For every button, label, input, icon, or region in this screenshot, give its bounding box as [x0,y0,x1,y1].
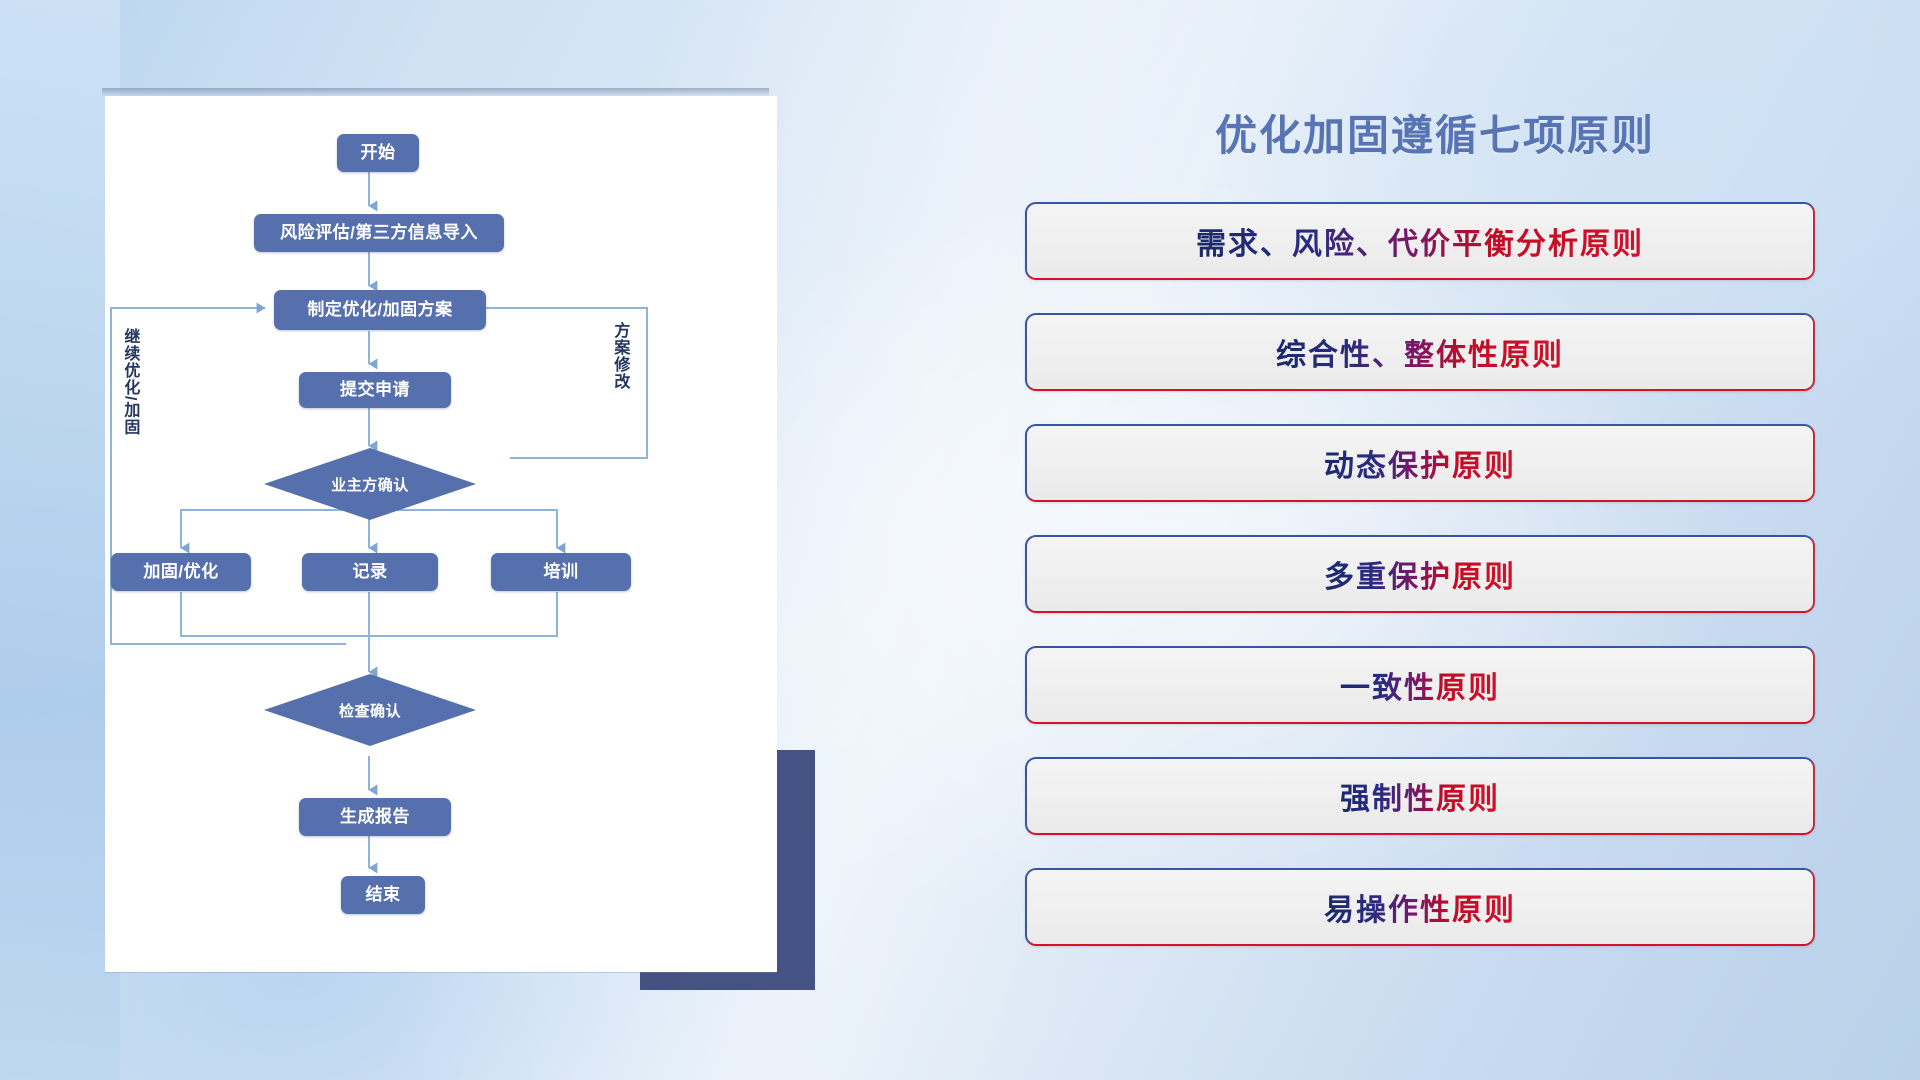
flow-node-training[interactable]: 培训 [491,553,631,591]
flow-node-reinforce[interactable]: 加固/优化 [111,553,251,591]
principles-panel: 优化加固遵循七项原则 需求、风险、代价平衡分析原则 综合性、整体性原则 动态保护… [1020,80,1850,1020]
principle-item[interactable]: 强制性原则 [1025,757,1815,835]
flow-node-risk-assessment-label: 风险评估/第三方信息导入 [280,224,478,243]
flow-node-submit-application[interactable]: 提交申请 [299,372,451,408]
principle-item[interactable]: 一致性原则 [1025,646,1815,724]
principle-item[interactable]: 动态保护原则 [1025,424,1815,502]
principle-label: 易操作性原则 [1324,885,1516,929]
flowchart-card: 开始 风险评估/第三方信息导入 制定优化/加固方案 提交申请 业主方确认 加固/… [105,96,777,972]
flow-node-reinforce-label: 加固/优化 [143,563,218,582]
flow-node-end-label: 结束 [366,886,401,905]
principle-label: 一致性原则 [1340,663,1500,707]
principle-label: 强制性原则 [1340,774,1500,818]
flow-node-generate-report-label: 生成报告 [340,808,410,827]
flow-edge-label-plan-revision: 方案修改 [611,322,627,390]
principle-item[interactable]: 综合性、整体性原则 [1025,313,1815,391]
principle-label: 多重保护原则 [1324,552,1516,596]
flow-node-end[interactable]: 结束 [341,876,425,914]
flow-node-record-label: 记录 [353,563,388,582]
panel-title: 优化加固遵循七项原则 [1020,102,1850,163]
flow-node-record[interactable]: 记录 [302,553,438,591]
flow-node-training-label: 培训 [544,563,579,582]
principle-label: 动态保护原则 [1324,441,1516,485]
flow-node-start[interactable]: 开始 [337,134,419,172]
flowchart-canvas: 开始 风险评估/第三方信息导入 制定优化/加固方案 提交申请 业主方确认 加固/… [105,96,777,972]
flow-node-start-label: 开始 [361,144,396,163]
principle-item[interactable]: 需求、风险、代价平衡分析原则 [1025,202,1815,280]
flow-node-plan-label: 制定优化/加固方案 [307,301,452,320]
flow-node-owner-confirm-label: 业主方确认 [331,474,409,495]
flow-node-submit-application-label: 提交申请 [340,381,410,400]
flow-edge-label-continue-optimize: 继续优化/加固 [121,328,137,435]
principle-item[interactable]: 多重保护原则 [1025,535,1815,613]
flow-node-plan[interactable]: 制定优化/加固方案 [274,290,486,330]
principle-item[interactable]: 易操作性原则 [1025,868,1815,946]
flow-node-check-confirm[interactable]: 检查确认 [264,674,476,746]
flow-node-check-confirm-label: 检查确认 [339,700,401,721]
flow-node-owner-confirm[interactable]: 业主方确认 [264,448,476,520]
background-left-band [0,0,120,1080]
principle-label: 需求、风险、代价平衡分析原则 [1196,219,1644,263]
principle-label: 综合性、整体性原则 [1276,330,1564,374]
flow-node-risk-assessment[interactable]: 风险评估/第三方信息导入 [254,214,504,252]
principle-list: 需求、风险、代价平衡分析原则 综合性、整体性原则 动态保护原则 多重保护原则 一… [1025,202,1815,979]
flow-node-generate-report[interactable]: 生成报告 [299,798,451,836]
